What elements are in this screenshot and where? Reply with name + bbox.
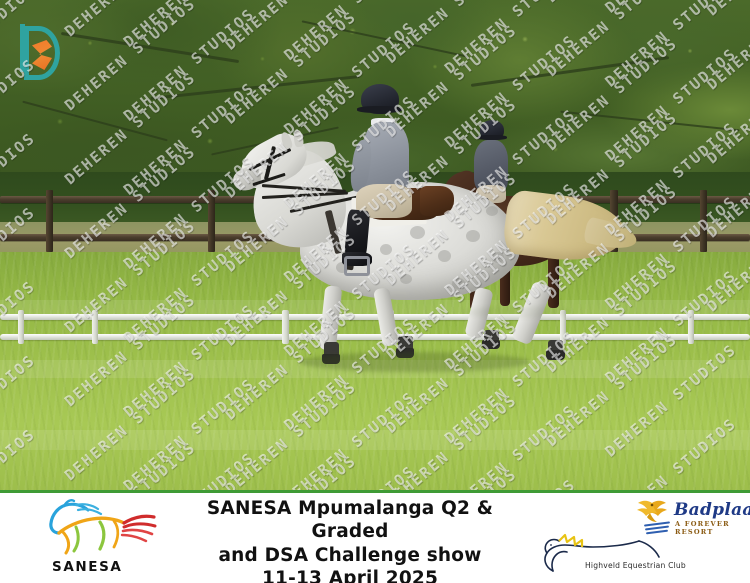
coat-dapple — [492, 252, 504, 263]
coat-dapple — [466, 230, 480, 242]
logo-d-bowl — [24, 26, 60, 80]
sanesa-horse-logo: SANESA — [26, 497, 166, 581]
grey-horse-hoof — [546, 350, 565, 360]
deheren-studios-logo — [18, 24, 64, 76]
event-photograph: DEHEREN STUDIOS DEHEREN STUDIOS DEHEREN … — [0, 0, 750, 492]
white-fence-post — [18, 310, 24, 344]
white-fence-top-rail — [0, 314, 750, 320]
event-title: SANESA Mpumalanga Q2 & Graded and DSA Ch… — [170, 497, 530, 583]
stirrup-iron[interactable] — [344, 256, 370, 276]
saddle-cantle — [420, 186, 454, 216]
white-fence-post — [92, 310, 98, 344]
event-title-line3: 11-13 April 2025 — [170, 567, 530, 583]
highveld-equestrian-club-logo: Highveld Equestrian Club — [535, 533, 685, 579]
coat-dapple — [380, 244, 392, 255]
coat-dapple — [400, 274, 412, 284]
event-title-line1: SANESA Mpumalanga Q2 & Graded — [170, 497, 530, 544]
bay-horse-leg — [548, 252, 559, 308]
badplaas-water-stripes — [644, 523, 672, 533]
sanesa-horse-svg — [26, 497, 166, 557]
white-fence-bottom-rail — [0, 334, 750, 340]
white-fence-post — [688, 310, 694, 344]
wood-fence-post — [46, 190, 53, 252]
rider-helmet-brim — [357, 106, 402, 113]
grey-horse-hoof — [482, 340, 500, 349]
highveld-label: Highveld Equestrian Club — [585, 561, 686, 570]
sanesa-wordmark: SANESA — [52, 559, 122, 575]
screenshot-root: DEHEREN STUDIOS DEHEREN STUDIOS DEHEREN … — [0, 0, 750, 583]
badplaas-tagline: A FOREVER RESORT — [675, 520, 748, 536]
coat-dapple — [410, 226, 425, 239]
mow-stripe — [0, 430, 750, 450]
coat-dapple — [486, 206, 498, 216]
wood-fence-post — [208, 190, 215, 252]
white-fence-post — [282, 310, 289, 344]
coat-dapple — [452, 278, 465, 289]
badplaas-logo: Badplaas A FOREVER RESORT — [630, 498, 748, 538]
event-footer: SANESA SANESA Mpumalanga Q2 & Graded and… — [0, 493, 750, 583]
wood-fence-post — [700, 190, 707, 252]
coat-dapple — [438, 250, 451, 262]
event-title-line2: and DSA Challenge show — [170, 544, 530, 567]
horse-shadow — [300, 352, 530, 372]
background-horse-shadow — [462, 306, 572, 318]
badplaas-wordmark: Badplaas — [674, 500, 750, 520]
